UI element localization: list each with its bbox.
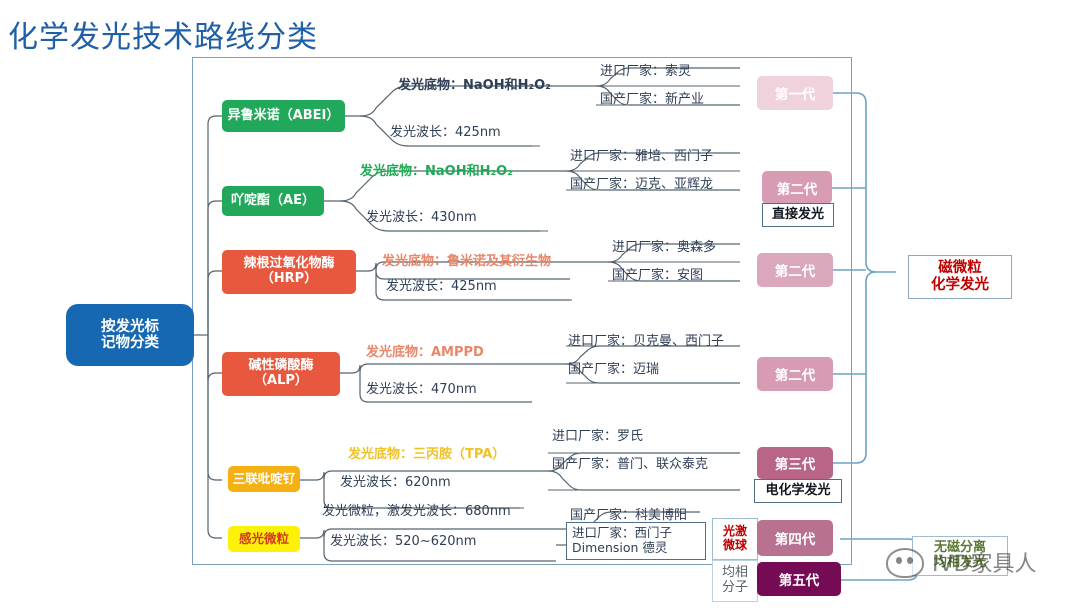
wavelength-hrp: 发光波长：425nm [386,275,497,294]
wavelength-ruthenium: 发光波长：620nm [340,471,451,490]
domestic-mfr-ruthenium: 国产厂家：普门、联众泰克 [552,453,708,472]
branch-node-abei-label: 异鲁米诺（ABEI） [228,109,340,124]
domestic-mfr-abei: 国产厂家：新产业 [600,88,704,107]
wavelength-alp: 发光波长：470nm [366,378,477,397]
substrate-abei: 发光底物：NaOH和H₂O₂ [398,74,551,93]
generation-badge-ruthenium[interactable]: 第三代 [757,447,833,479]
page-title: 化学发光技术路线分类 [8,12,318,56]
substrate-ae: 发光底物：NaOH和H₂O₂ [360,160,513,179]
generation-badge-abei[interactable]: 第一代 [757,76,833,110]
wavelength-photoparticle: 发光波长：520~620nm [330,530,476,549]
branch-node-photoparticle-label: 感光微粒 [239,532,289,546]
tag-electrochemiluminescence[interactable]: 电化学发光 [754,479,842,503]
import-mfr-ae: 进口厂家：雅培、西门子 [570,145,713,164]
generation-badge-ae[interactable]: 第二代 [762,171,832,204]
tag-photo-bead[interactable]: 光激 微球 [712,518,758,560]
substrate-ruthenium: 发光底物：三丙胺（TPA） [348,443,505,462]
domestic-mfr-photoparticle: 国产厂家：科美博阳 [570,504,687,523]
root-node-label: 按发光标 记物分类 [101,319,159,351]
outcome-separation-free[interactable]: 无磁分离 均相发光 [912,536,1008,576]
branch-node-alp[interactable]: 碱性磷酸酶 （ALP） [222,352,340,396]
import-mfr-ruthenium: 进口厂家：罗氏 [552,425,643,444]
branch-node-ruthenium[interactable]: 三联吡啶钌 [228,466,300,492]
branch-node-ae-label: 吖啶酯（AE） [231,194,315,209]
branch-node-alp-label: 碱性磷酸酶 （ALP） [248,359,313,388]
import-mfr-photoparticle: 进口厂家：西门子 Dimension 德灵 [566,522,706,560]
domestic-mfr-alp: 国产厂家：迈瑞 [568,358,659,377]
domestic-mfr-hrp: 国产厂家：安图 [612,264,703,283]
outcome-magnetic-chemiluminescence[interactable]: 磁微粒 化学发光 [908,255,1012,299]
branch-node-hrp-label: 辣根过氧化物酶 （HRP） [243,257,334,286]
branch-node-hrp[interactable]: 辣根过氧化物酶 （HRP） [222,250,356,294]
tag-direct-luminescence[interactable]: 直接发光 [762,203,834,227]
substrate-alp: 发光底物：AMPPD [366,341,484,360]
root-node[interactable]: 按发光标 记物分类 [66,304,194,366]
generation-badge-alp[interactable]: 第二代 [757,357,833,391]
substrate-hrp: 发光底物：鲁米诺及其衍生物 [382,250,551,269]
tag-homogeneous-molecule[interactable]: 均相 分子 [712,560,758,602]
import-mfr-alp: 进口厂家：贝克曼、西门子 [568,330,724,349]
wavelength-ae: 发光波长：430nm [366,206,477,225]
generation-badge-hrp[interactable]: 第二代 [757,253,833,287]
import-mfr-abei: 进口厂家：索灵 [600,60,691,79]
generation-badge-gen5[interactable]: 第五代 [757,562,841,596]
generation-badge-photoparticle[interactable]: 第四代 [757,520,833,556]
branch-node-ruthenium-label: 三联吡啶钌 [233,472,296,486]
import-mfr-hrp: 进口厂家：奥森多 [612,236,716,255]
branch-node-photoparticle[interactable]: 感光微粒 [228,526,300,552]
substrate-photoparticle: 发光微粒，激发光波长：680nm [322,500,511,519]
diagram-canvas: 化学发光技术路线分类 [0,0,1080,608]
wavelength-abei: 发光波长：425nm [390,121,501,140]
domestic-mfr-ae: 国产厂家：迈克、亚辉龙 [570,173,713,192]
branch-node-abei[interactable]: 异鲁米诺（ABEI） [222,100,345,132]
branch-node-ae[interactable]: 吖啶酯（AE） [222,186,324,216]
